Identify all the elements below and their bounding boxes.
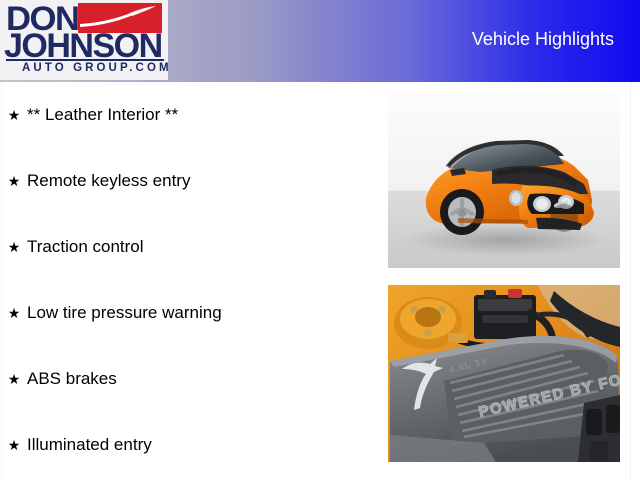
star-icon: ★ <box>7 148 21 214</box>
list-item: ★ Remote keyless entry <box>0 148 380 214</box>
list-item: ★ Traction control <box>0 214 380 280</box>
list-item-label: ABS brakes <box>27 369 117 388</box>
dealer-logo[interactable]: DON JOHNSON AUTO GROUP.COM <box>0 0 168 80</box>
vehicle-engine-photo[interactable]: POWERED BY FORD 4.6L 3V <box>388 285 620 462</box>
star-icon: ★ <box>7 82 21 148</box>
page-left-border <box>1 82 2 480</box>
page-title: Vehicle Highlights <box>472 29 614 50</box>
vehicle-highlights-page: DON JOHNSON AUTO GROUP.COM Vehicle Highl… <box>0 0 640 480</box>
page-right-border <box>630 82 631 480</box>
logo-line-johnson: JOHNSON <box>4 29 162 63</box>
list-item-label: ** Leather Interior ** <box>27 105 178 124</box>
logo-divider <box>6 59 164 61</box>
list-item: ★ Illuminated entry <box>0 412 380 478</box>
list-item-label: Illuminated entry <box>27 435 152 454</box>
list-item-label: Remote keyless entry <box>27 171 190 190</box>
page-header: DON JOHNSON AUTO GROUP.COM Vehicle Highl… <box>0 0 640 82</box>
list-item: ★ ** Leather Interior ** <box>0 82 380 148</box>
star-icon: ★ <box>7 214 21 280</box>
vehicle-exterior-photo[interactable] <box>388 94 620 268</box>
list-item-label: Traction control <box>27 237 144 256</box>
star-icon: ★ <box>7 280 21 346</box>
list-item: ★ Low tire pressure warning <box>0 280 380 346</box>
star-icon: ★ <box>7 412 21 478</box>
list-item-label: Low tire pressure warning <box>27 303 222 322</box>
page-content: ★ ** Leather Interior ** ★ Remote keyles… <box>0 82 640 480</box>
logo-tagline: AUTO GROUP.COM <box>22 62 168 74</box>
vehicle-highlights-list: ★ ** Leather Interior ** ★ Remote keyles… <box>0 82 380 478</box>
list-item: ★ ABS brakes <box>0 346 380 412</box>
star-icon: ★ <box>7 346 21 412</box>
